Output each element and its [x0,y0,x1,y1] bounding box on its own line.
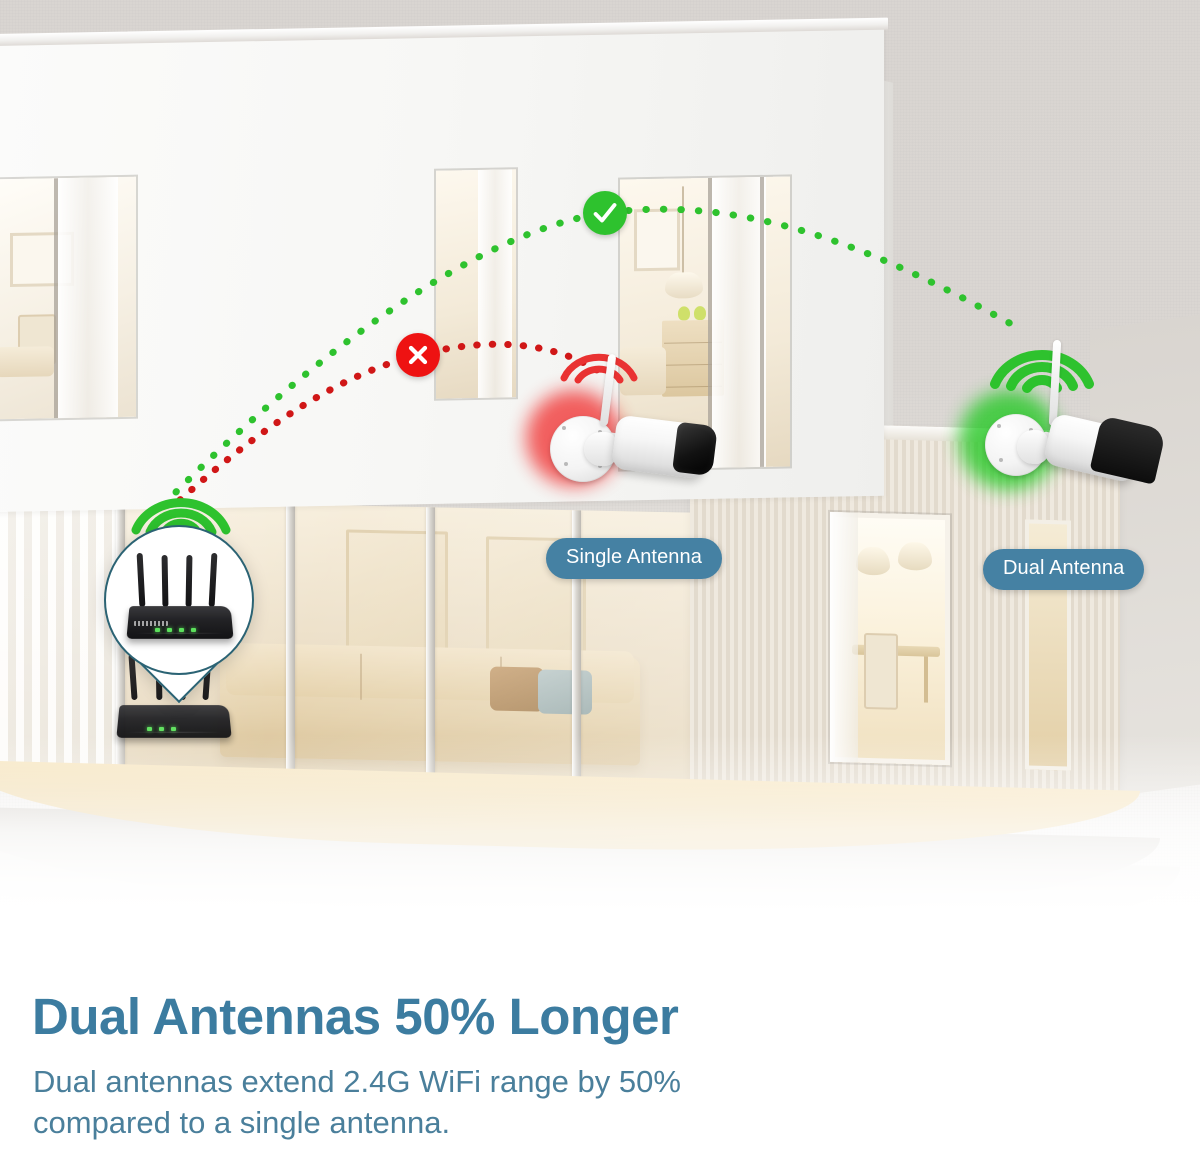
router-status-leds [147,727,176,731]
x-icon [396,333,440,377]
dining-chair [864,633,898,710]
table-leg [924,657,928,703]
window-dining-room [830,512,950,765]
headline: Dual Antennas 50% Longer [32,987,678,1046]
window-upper-left [0,177,136,420]
badge-single-antenna: Single Antenna [546,538,722,579]
dual-antenna-camera [955,370,1165,520]
wall-picture [634,208,680,271]
house-scene: Single Antenna Dual Antenna [0,0,1200,965]
pendant-lamp-cord [682,186,684,274]
check-icon [583,191,627,235]
router-antenna [209,553,218,607]
router-antenna [137,553,146,607]
pendant-lamp [898,542,932,571]
badge-dual-antenna: Dual Antenna [983,549,1144,590]
window-mullion [760,177,764,467]
pendant-lamp [856,547,890,576]
window-mullion [54,178,58,418]
camera-mount-hub [1017,430,1049,464]
pendant-lamp-shade [665,272,703,299]
camera-antenna [1049,340,1061,426]
router-body [116,705,231,738]
interior-furniture [0,346,54,377]
window-curtain [712,177,766,468]
router-antenna [186,555,193,607]
single-antenna-camera [520,368,720,508]
window-upper-middle [436,169,516,398]
decor-vase [694,306,706,320]
wifi-router-icon [128,553,232,639]
decor-vase [678,306,690,320]
bottom-white-fade [0,735,1200,965]
window-curtain [830,512,858,763]
subheadline: Dual antennas extend 2.4G WiFi range by … [33,1061,753,1143]
router-status-leds [155,628,196,632]
caption-block: Dual Antennas 50% Longer Dual antennas e… [0,965,1200,1152]
window-curtain [478,169,512,398]
window-curtain [58,177,118,418]
router-brand-mark [134,621,168,626]
camera-lens-face [672,422,718,477]
product-feature-graphic: Single Antenna Dual Antenna Dual Antenna… [0,0,1200,1152]
router-antenna [162,555,169,607]
router-location-pin [104,525,254,710]
